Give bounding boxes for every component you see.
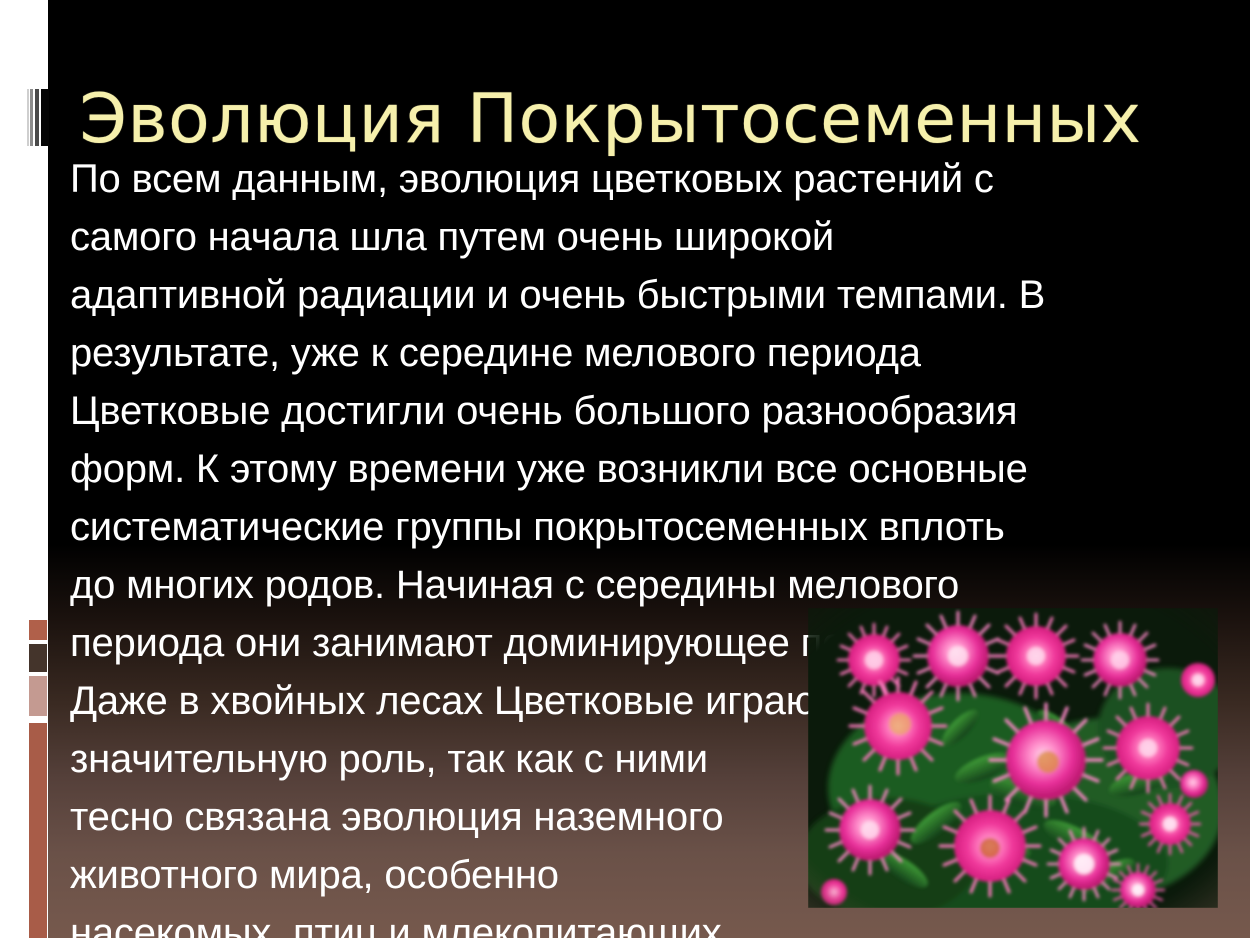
slide-canvas: Эволюция Покрытосеменных По всем данным,… [48,0,1250,938]
flower-photo-art [808,608,1218,908]
segment-gap [29,716,47,723]
flower-photo [808,608,1218,908]
body-line: результате, уже к середине мелового пери… [70,324,1200,382]
segment-terracotta [29,620,47,640]
body-line: систематические группы покрытосеменных в… [70,498,1200,556]
body-line: до многих родов. Начиная с середины мело… [70,556,1200,614]
body-line: самого начала шла путем очень широкой [70,208,1200,266]
top-stripe-decoration [27,89,49,146]
side-bar-decoration [29,620,47,938]
body-line: По всем данным, эволюция цветковых расте… [70,150,1200,208]
stripe-black [41,89,49,146]
body-line: адаптивной радиации и очень быстрыми тем… [70,266,1200,324]
slide-title: Эволюция Покрытосеменных [48,84,1173,155]
segment-rust [29,723,47,938]
segment-mauve [29,676,47,716]
body-line: Цветковые достигли очень большого разноо… [70,382,1200,440]
body-line: форм. К этому времени уже возникли все о… [70,440,1200,498]
presentation-slide: Эволюция Покрытосеменных По всем данным,… [0,0,1250,938]
segment-dark-brown [29,644,47,672]
body-line: насекомых, птиц и млекопитающих. [70,904,1200,938]
